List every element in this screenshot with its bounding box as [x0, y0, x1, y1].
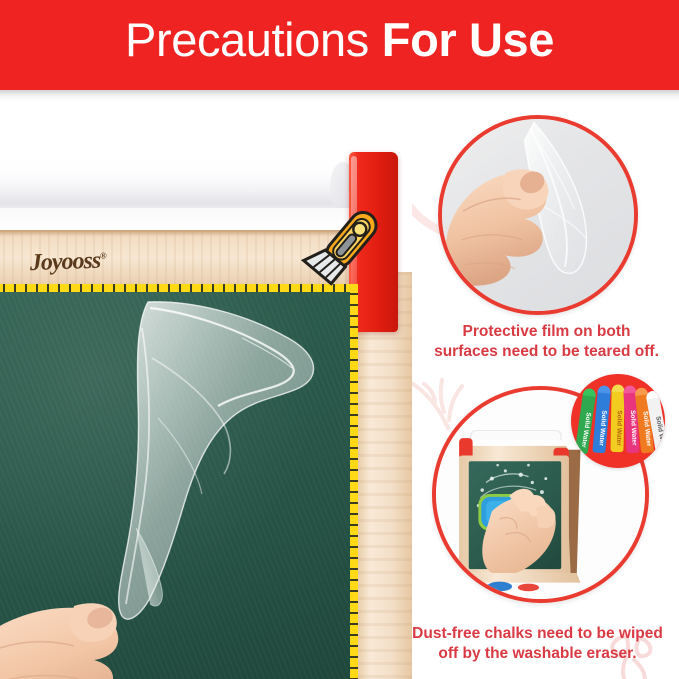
- wooden-right-post: [358, 272, 412, 679]
- board-edge-dashed-right: [350, 284, 358, 679]
- main-product-photo: Joyooss®: [0, 112, 412, 679]
- step-2-caption: Dust-free chalks need to be wiped off by…: [396, 624, 679, 664]
- step-1-photo: [438, 115, 638, 315]
- hand-peeling-film: [0, 592, 180, 679]
- box-cutter-icon: [300, 205, 400, 305]
- infographic-root: Precautions For Use Joyooss®: [0, 0, 679, 679]
- step-1-illustration: [442, 119, 634, 311]
- step-1-caption-line-1: Protective film on both: [414, 322, 679, 342]
- svg-text:Solid Water: Solid Water: [615, 410, 623, 446]
- step-2-caption-line-2: off by the washable eraser.: [396, 644, 679, 664]
- step-1-caption-line-2: surfaces need to be teared off.: [414, 342, 679, 362]
- solid-water-chalk-markers: Solid Water Solid Water Solid Water Soli…: [571, 374, 665, 468]
- brand-name: Joyooss: [29, 248, 100, 276]
- registered-mark: ®: [100, 250, 106, 260]
- title-light-part: Precautions: [125, 16, 369, 63]
- step-2-caption-line-1: Dust-free chalks need to be wiped: [396, 624, 679, 644]
- page-title: Precautions For Use: [0, 0, 679, 78]
- step-1-caption: Protective film on both surfaces need to…: [414, 322, 679, 362]
- brand-logo: Joyooss®: [29, 246, 150, 284]
- title-bold-part: For Use: [382, 16, 554, 63]
- chalk-markers-inset: Solid Water Solid Water Solid Water Soli…: [571, 374, 665, 468]
